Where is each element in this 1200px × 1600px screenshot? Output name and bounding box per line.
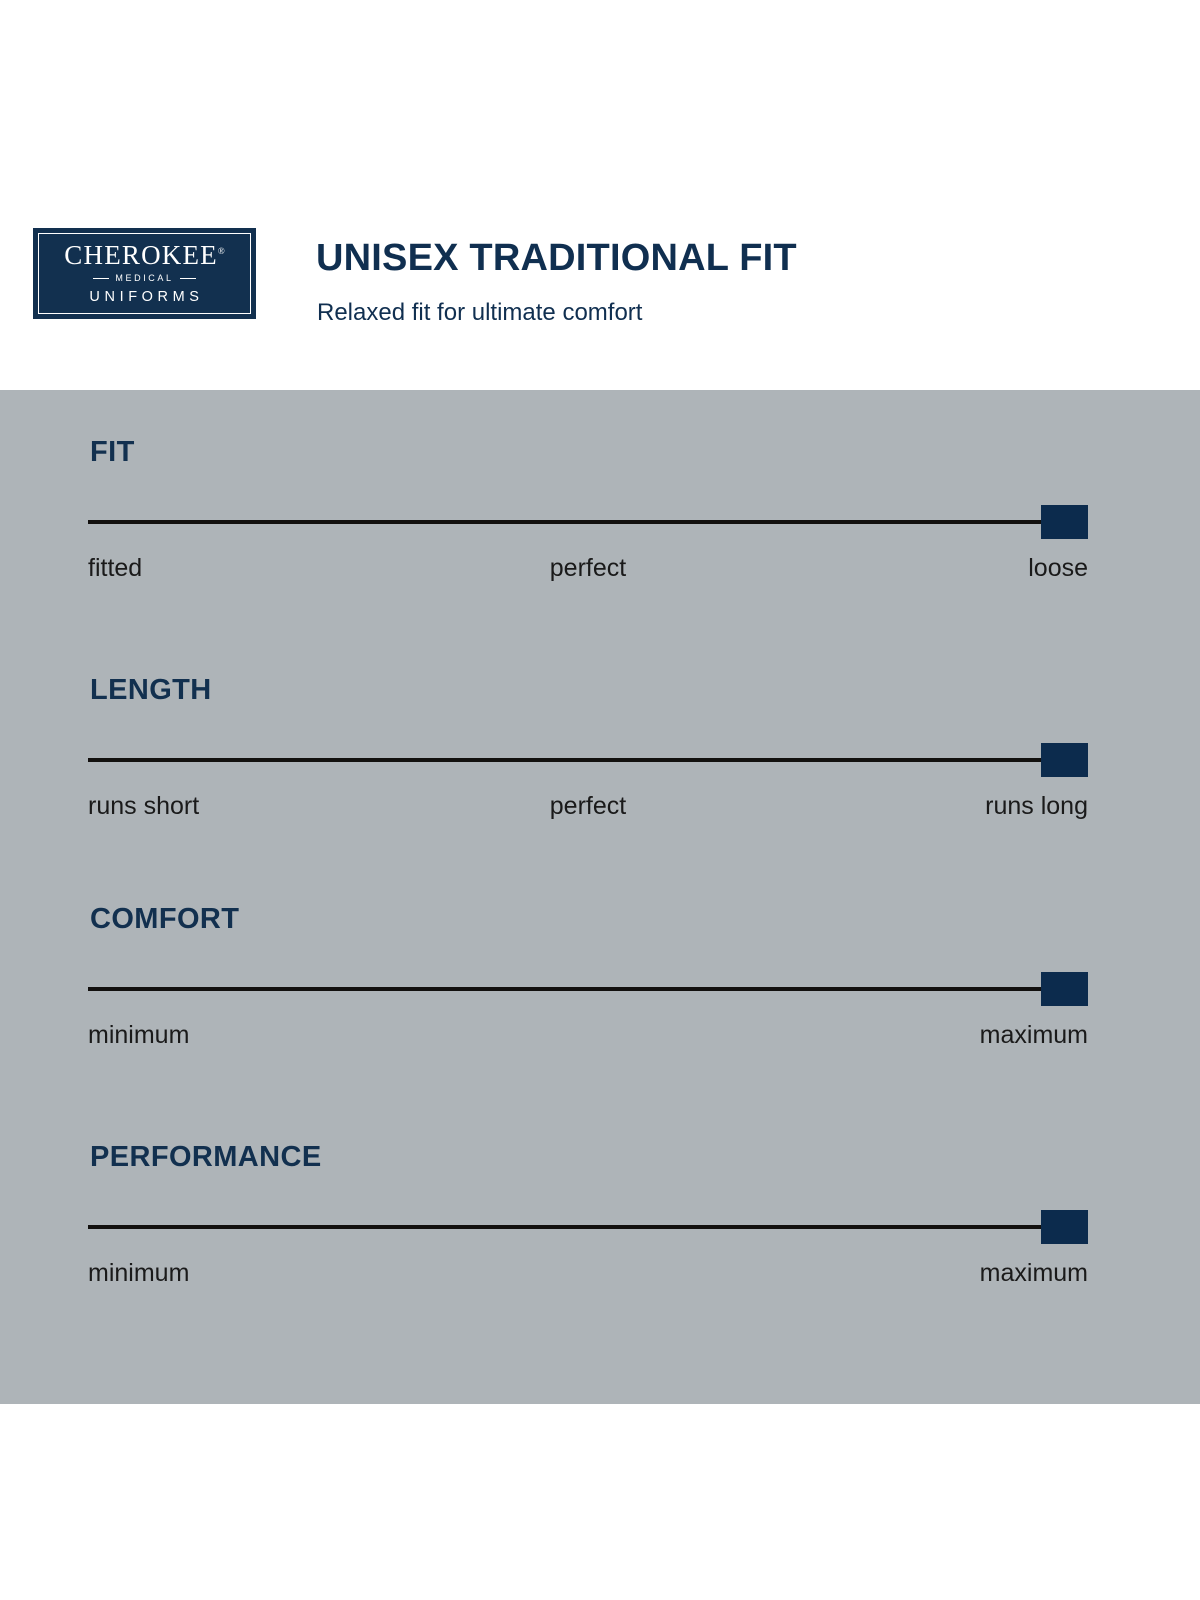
slider-label-right-performance: maximum [980,1258,1088,1288]
slider-labels-performance: minimum maximum [88,1258,1088,1292]
logo-medical-row: MEDICAL [93,274,195,283]
fit-attributes-panel: FIT fitted perfect loose LENGTH runs sho… [0,390,1200,1404]
slider-heading-fit: FIT [90,438,1088,467]
slider-label-right-fit: loose [1028,553,1088,583]
slider-label-left-comfort: minimum [88,1020,189,1050]
registered-trademark-icon: ® [218,246,225,256]
page-header: CHEROKEE® MEDICAL UNIFORMS UNISEX TRADIT… [0,0,1200,390]
slider-label-right-length: runs long [985,791,1088,821]
slider-track-fit[interactable] [88,505,1088,539]
slider-labels-fit: fitted perfect loose [88,553,1088,587]
slider-label-left-performance: minimum [88,1258,189,1288]
slider-marker-comfort[interactable] [1041,972,1088,1006]
slider-track-performance[interactable] [88,1210,1088,1244]
slider-track-line [88,758,1088,762]
slider-label-right-comfort: maximum [980,1020,1088,1050]
logo-rule-left-icon [93,278,109,279]
slider-heading-length: LENGTH [90,676,1088,705]
slider-track-line [88,1225,1088,1229]
slider-block-fit: FIT fitted perfect loose [88,438,1088,587]
slider-marker-performance[interactable] [1041,1210,1088,1244]
slider-heading-comfort: COMFORT [90,905,1088,934]
slider-block-performance: PERFORMANCE minimum maximum [88,1143,1088,1292]
logo-brand-name: CHEROKEE® [64,242,224,269]
slider-labels-comfort: minimum maximum [88,1020,1088,1054]
slider-label-center-fit: perfect [550,553,626,583]
slider-block-length: LENGTH runs short perfect runs long [88,676,1088,825]
slider-track-line [88,520,1088,524]
slider-track-length[interactable] [88,743,1088,777]
slider-label-left-length: runs short [88,791,199,821]
logo-uniforms-text: UNIFORMS [89,290,203,305]
logo-brand-name-text: CHEROKEE [64,240,218,270]
logo-rule-right-icon [180,278,196,279]
logo-medical-text: MEDICAL [115,274,173,283]
slider-labels-length: runs short perfect runs long [88,791,1088,825]
slider-marker-length[interactable] [1041,743,1088,777]
slider-track-line [88,987,1088,991]
slider-heading-performance: PERFORMANCE [90,1143,1088,1172]
slider-marker-fit[interactable] [1041,505,1088,539]
slider-label-center-length: perfect [550,791,626,821]
slider-label-left-fit: fitted [88,553,142,583]
slider-track-comfort[interactable] [88,972,1088,1006]
logo-inner-border: CHEROKEE® MEDICAL UNIFORMS [38,233,251,314]
cherokee-medical-uniforms-logo: CHEROKEE® MEDICAL UNIFORMS [33,228,256,319]
slider-block-comfort: COMFORT minimum maximum [88,905,1088,1054]
page-subtitle: Relaxed fit for ultimate comfort [317,299,642,328]
page-title: UNISEX TRADITIONAL FIT [316,238,797,280]
